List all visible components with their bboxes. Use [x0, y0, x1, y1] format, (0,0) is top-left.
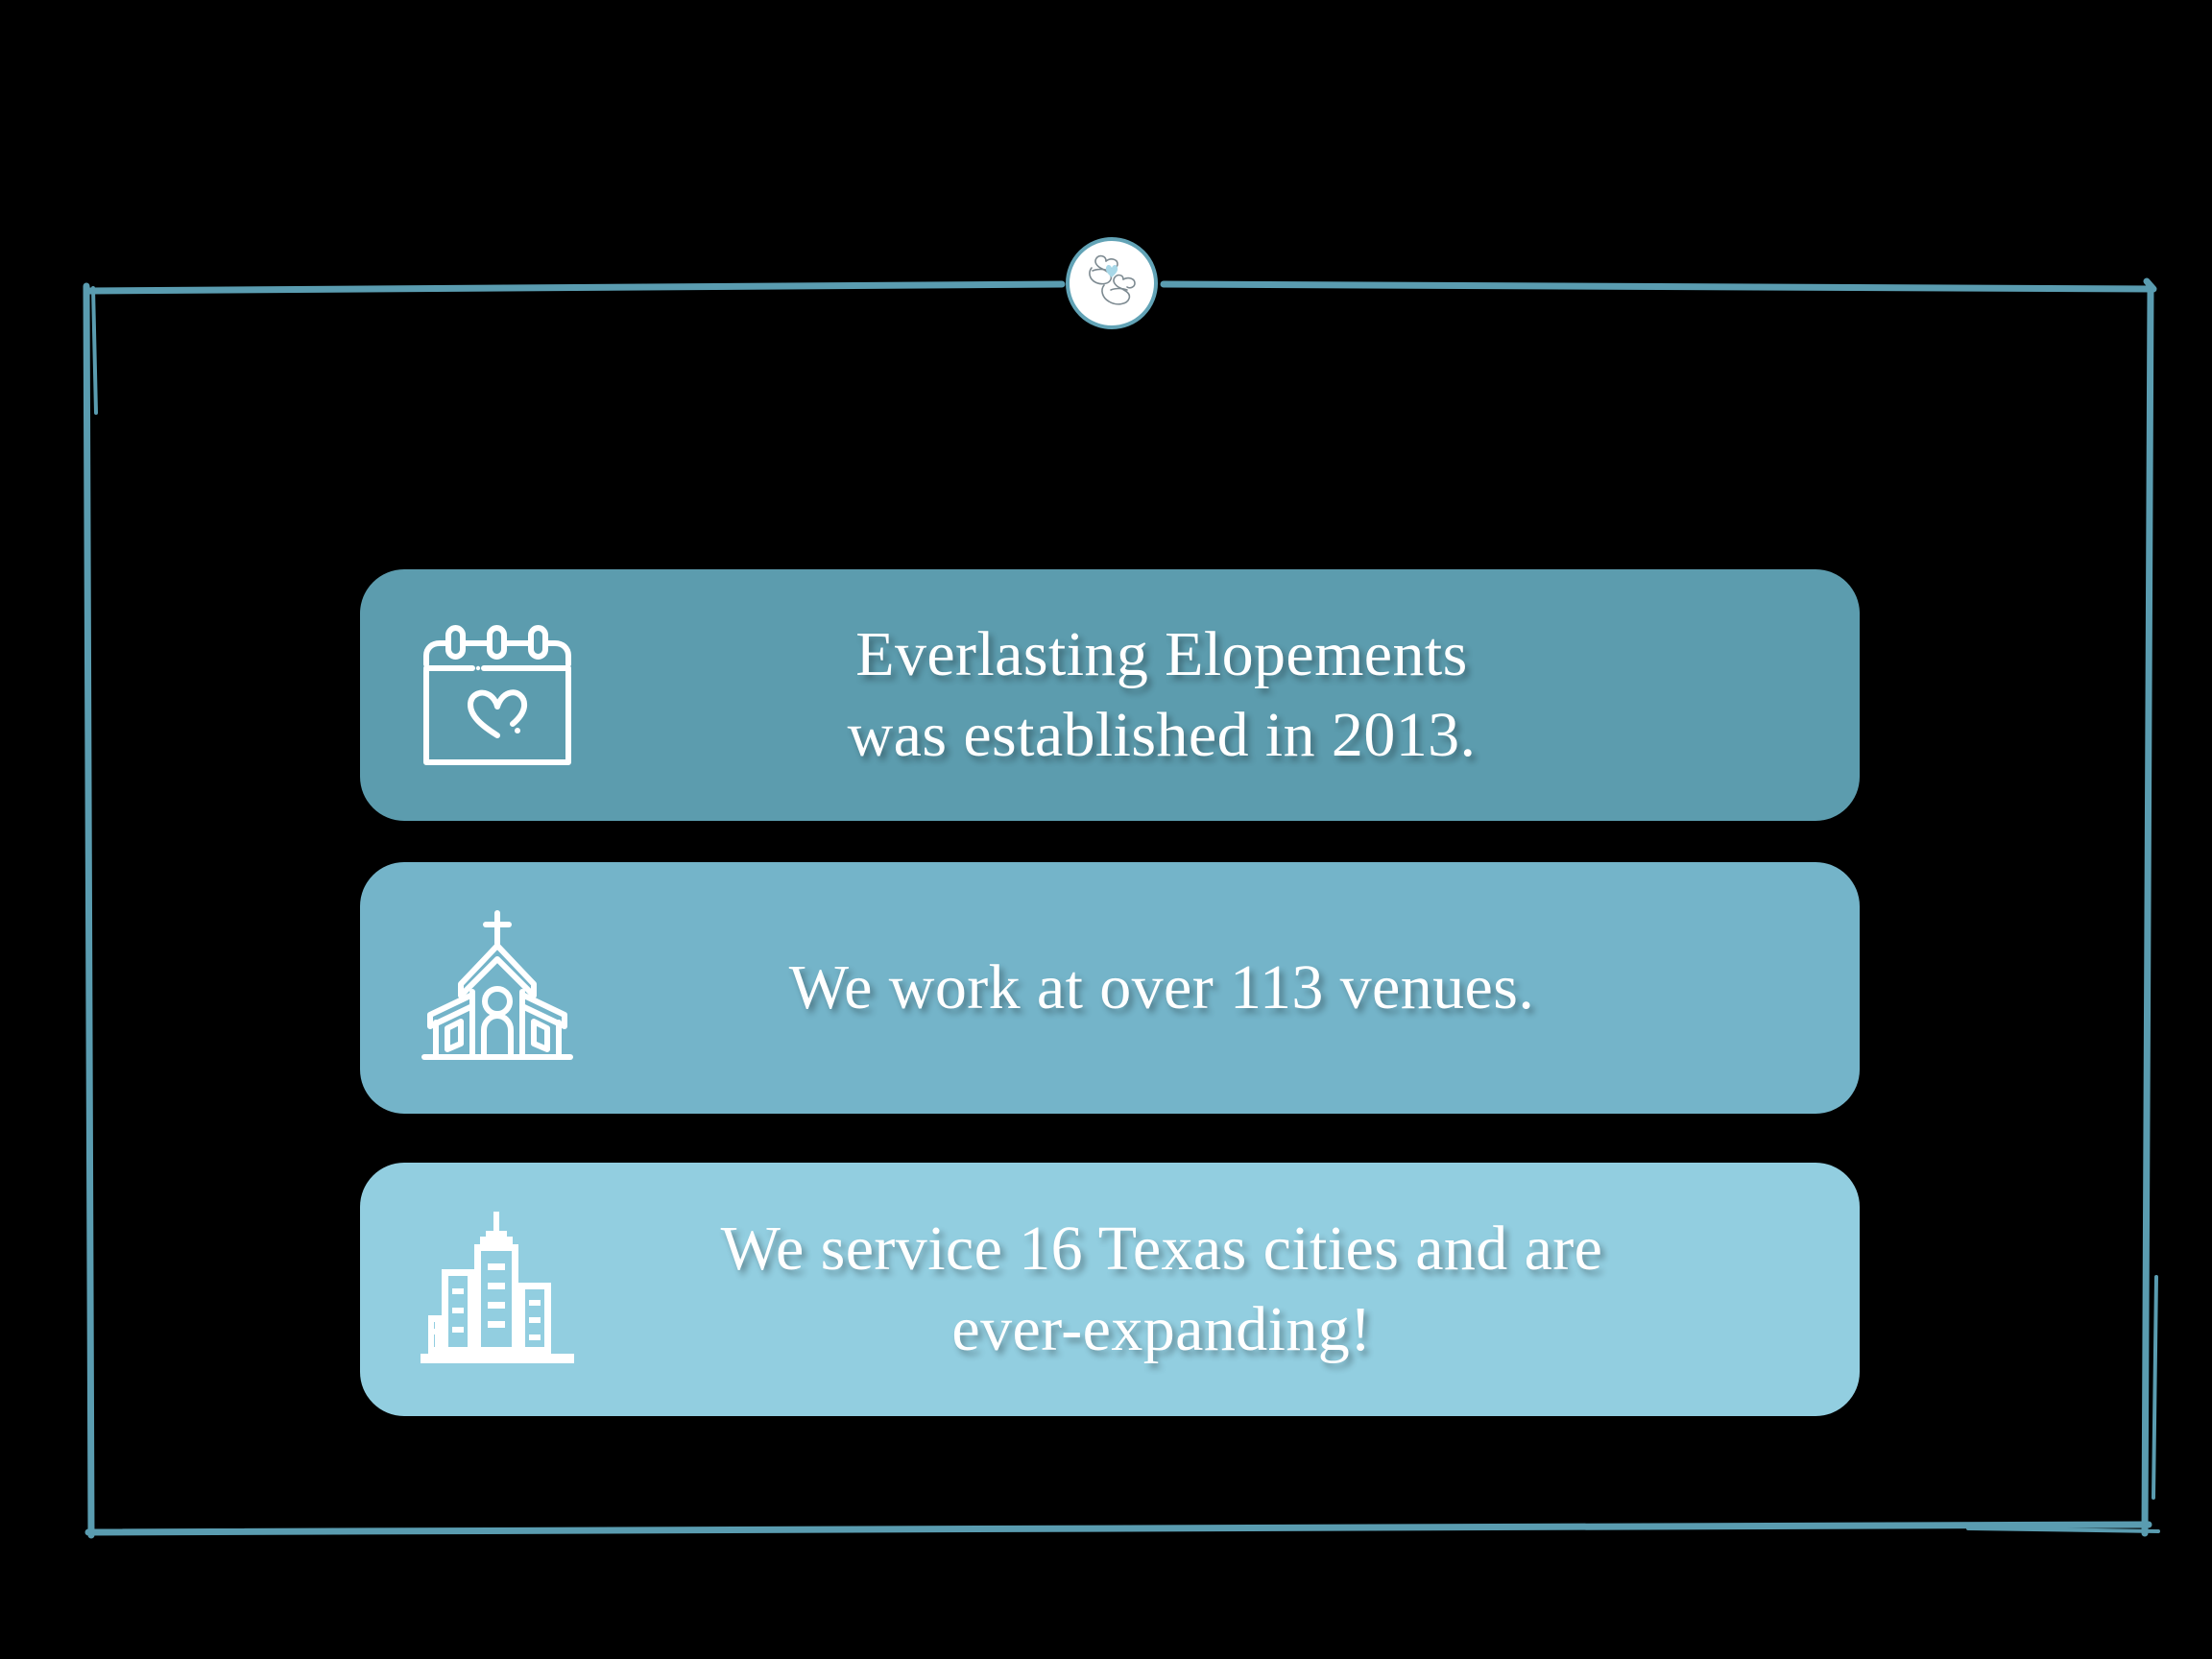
fact-panel-venues: We work at over 113 venues.: [360, 862, 1860, 1114]
calendar-heart-icon: [387, 622, 608, 768]
fact-text: We work at over 113 venues.: [608, 948, 1860, 1028]
frame-left-accent: [93, 288, 96, 413]
frame-bottom-side: [88, 1525, 2149, 1532]
fact-panel-established: Everlasting Elopements was established i…: [360, 569, 1860, 821]
frame-right-side: [2145, 288, 2151, 1533]
slide-canvas: Everlasting Elopements was established i…: [0, 0, 2212, 1659]
monogram-ee-icon: [1076, 248, 1147, 319]
brand-logo-badge: [1066, 237, 1158, 329]
fact-panel-cities: We service 16 Texas cities and are ever-…: [360, 1163, 1860, 1416]
frame-right-accent: [2153, 1277, 2156, 1498]
fact-text: We service 16 Texas cities and are ever-…: [608, 1209, 1860, 1371]
frame-bottom-accent: [1968, 1528, 2158, 1531]
city-skyline-icon: [387, 1210, 608, 1369]
frame-top-left-segment: [88, 284, 1062, 291]
frame-left-side: [86, 286, 91, 1535]
church-icon: [387, 909, 608, 1067]
fact-text: Everlasting Elopements was established i…: [608, 614, 1860, 777]
frame-top-right-segment: [1164, 281, 2153, 289]
